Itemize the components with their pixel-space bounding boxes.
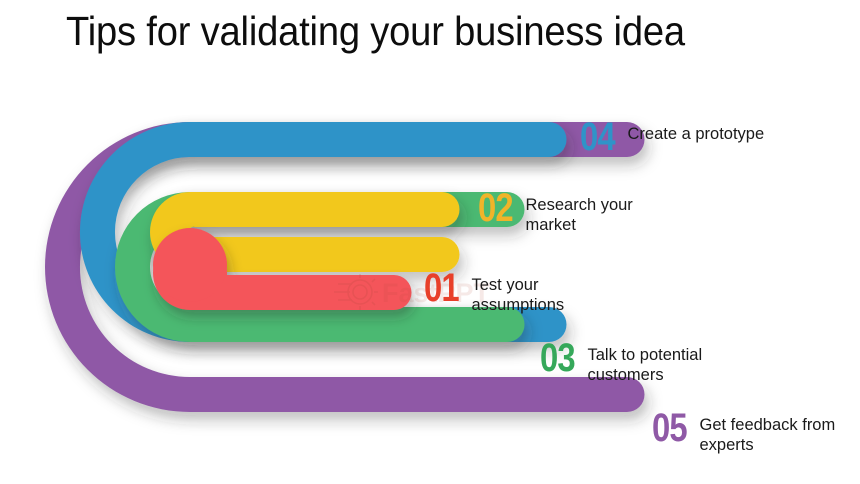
callout-01[interactable]: 01 Test your assumptions <box>424 269 564 315</box>
callout-line: Create a prototype <box>628 124 765 144</box>
callout-line: experts <box>700 435 836 455</box>
ring-core-circle-01 <box>153 228 227 302</box>
callout-number-03: 03 <box>540 339 575 377</box>
callout-03[interactable]: 03 Talk to potential customers <box>540 339 702 385</box>
callout-text-02: Research your market <box>526 189 633 235</box>
callout-number-01: 01 <box>424 269 459 307</box>
callout-text-04: Create a prototype <box>628 118 765 144</box>
callout-line: assumptions <box>472 295 565 315</box>
callout-05[interactable]: 05 Get feedback from experts <box>652 409 835 455</box>
callout-line: Research your <box>526 195 633 215</box>
callout-line: Talk to potential <box>588 345 703 365</box>
callout-number-05: 05 <box>652 409 687 447</box>
callout-line: market <box>526 215 633 235</box>
callout-line: Test your <box>472 275 565 295</box>
callout-line: Get feedback from <box>700 415 836 435</box>
callout-line: customers <box>588 365 703 385</box>
infographic-slide: Tips for validating your business idea <box>0 0 860 484</box>
callout-number-04: 04 <box>580 118 615 156</box>
callout-number-02: 02 <box>478 189 513 227</box>
callout-text-01: Test your assumptions <box>472 269 565 315</box>
callout-04[interactable]: 04 Create a prototype <box>580 118 764 156</box>
callout-02[interactable]: 02 Research your market <box>478 189 633 235</box>
callout-text-03: Talk to potential customers <box>588 339 703 385</box>
callout-text-05: Get feedback from experts <box>700 409 836 455</box>
